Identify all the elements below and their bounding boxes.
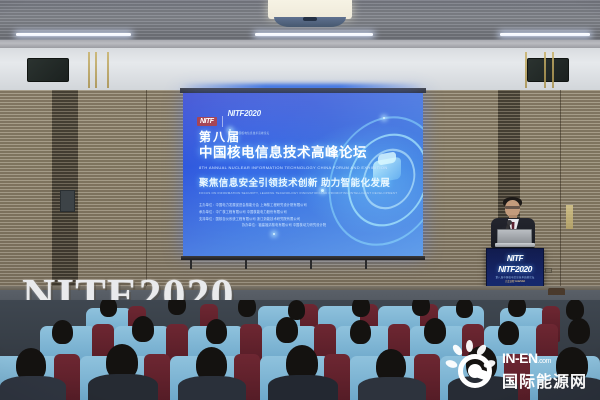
wall-trim-strip [88,52,90,88]
ceiling-light-2 [255,33,373,36]
audience-member [566,300,584,320]
microphone-head-icon [507,220,512,225]
slide-text-block: 第八届 中国核电信息技术高峰论坛 8TH ANNUAL NUCLEAR INFO… [199,131,369,229]
screen-support [365,260,367,269]
audience-member [238,300,256,317]
watermark-english-text: IN-EN [502,350,538,366]
logo-petal [451,343,464,357]
projection-screen-bottom-bar [181,256,425,260]
wall-panel-vent [60,190,75,212]
audience-member [206,319,227,344]
watermark-english: IN-EN.com [502,350,551,366]
wall-trim-strip [107,52,109,88]
slide-logo-divider [222,116,223,127]
slide-subtitle-cn: 聚焦信息安全引领技术创新 助力智能化发展 [199,175,369,189]
conference-photo: NITF NITF2020 第八届中国核电信息技术高峰论坛 第八届 中国核电信息… [0,0,600,400]
podium-logo-mark: NITF [487,254,543,263]
watermark-chinese: 国际能源网 [502,368,587,392]
organizer-row: 协办单位：福建福清核电有限公司 中国核动力研究设计院 [199,222,369,229]
spark-dot-icon [383,117,385,119]
audience-member-shoulders [358,377,426,400]
organizer-row: 主办单位：中国电力发展促进会核能分会 上海核工程研究设计院有限公司 [199,202,369,209]
slide-logo-mark: NITF [197,117,217,126]
audience-member [100,300,117,317]
audience-member [52,320,73,344]
wall-seam [146,90,147,290]
wall-seam [560,90,561,290]
speaker-glasses-icon [505,206,520,209]
wall-sconce [566,205,573,229]
wall-trim-strip [544,52,546,88]
podium-logo-wordmark: NITF2020 [487,264,543,274]
audience-member-shoulders [268,375,338,400]
screen-support [245,260,247,269]
projector-lens-icon [303,17,317,21]
projection-screen: NITF NITF2020 第八届中国核电信息技术高峰论坛 第八届 中国核电信息… [183,93,423,256]
audience-member [412,300,430,316]
audience-member-shoulders [0,376,66,400]
laptop-keyboard [495,243,535,247]
ceiling-light-1 [16,33,131,36]
audience-member-shoulders [178,376,246,400]
slide-title-line2: 中国核电信息技术高峰论坛 [199,145,369,162]
audience-member [276,317,298,343]
slide-logo-wordmark: NITF2020 [228,109,261,118]
laptop-screen [497,229,532,244]
organizer-row: 承办单位：中广核工程有限公司 中国核能电力股份有限公司 [199,209,369,216]
wall-speaker-left [27,58,69,82]
screen-support [190,260,192,269]
ceiling-trim [0,40,600,48]
wall-trim-strip [525,52,527,88]
wall-speaker-right [527,58,569,82]
slide-subtitle-en: FOCUS ON INFORMATION SECURITY, LEADING T… [199,191,369,195]
podium-logo: NITF NITF2020 第八届中国核电信息技术高峰论坛 [487,254,543,279]
audience-member [508,300,526,317]
in-en-logo-icon [452,344,498,390]
slide-organizer-list: 主办单位：中国电力发展促进会核能分会 上海核工程研究设计院有限公司 承办单位：中… [199,202,369,229]
audience-member [132,316,154,342]
slide-title-english: 8TH ANNUAL NUCLEAR INFORMATION TECHNOLOG… [199,165,369,170]
audience-member [456,300,473,318]
wall-trim-strip [95,52,97,88]
audience-member [352,300,370,317]
ceiling-light-3 [500,33,590,36]
wall-trim-strip [552,52,554,88]
audience-member [168,300,186,315]
organizer-row: 支持单位：国核自仪系统工程有限公司 浙江浙能技术研究院有限公司 [199,216,369,223]
audience-member-shoulders [88,374,158,400]
audience-member [424,318,446,344]
watermark: IN-EN.com 国际能源网 [452,336,598,396]
logo-petal [466,340,473,352]
spark-dot-icon [273,233,275,235]
watermark-domain: .com [538,358,551,365]
slide-title-line1: 第八届 [199,131,369,144]
floor-object [548,288,565,295]
audience-member [350,320,371,344]
screen-support [310,260,312,269]
